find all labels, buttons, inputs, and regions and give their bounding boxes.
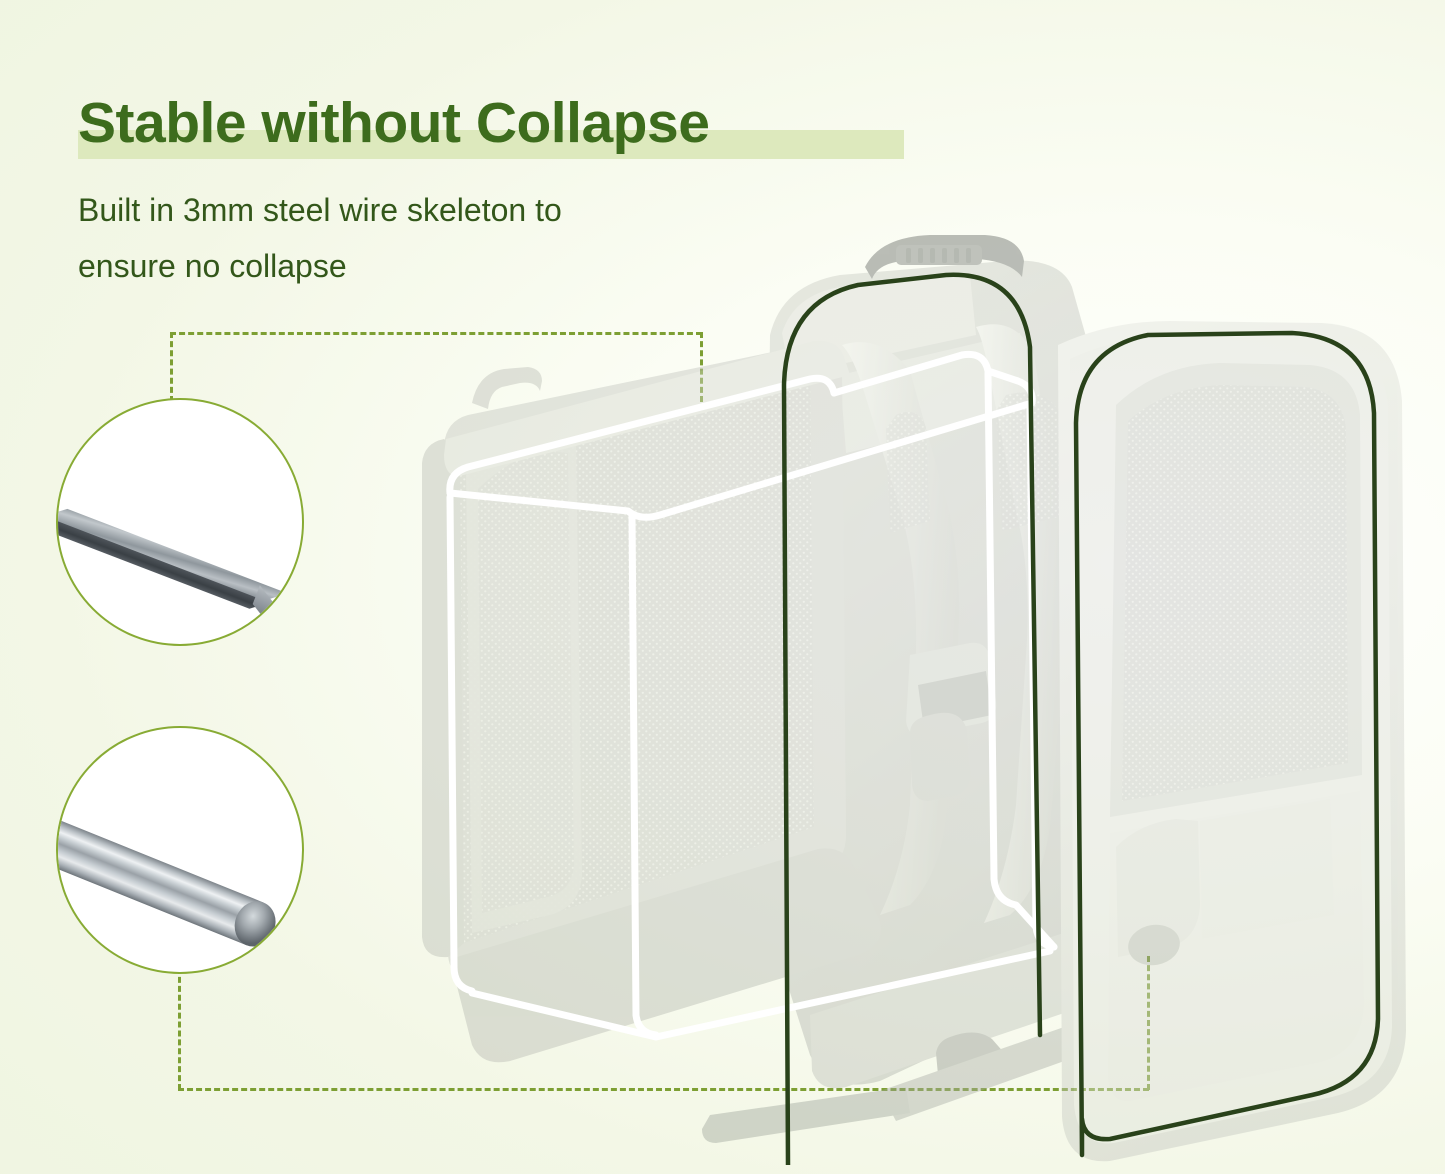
product-illustration — [410, 215, 1420, 1165]
product-photo-ghost — [422, 235, 1406, 1161]
flat-steel-bar-icon — [56, 505, 292, 622]
connector-top-left-vertical — [170, 332, 173, 402]
connector-bottom-left-vertical — [178, 968, 181, 1090]
round-steel-rod-icon — [56, 816, 282, 953]
title-text: Stable without Collapse — [78, 84, 709, 162]
infographic-canvas: Stable without Collapse Built in 3mm ste… — [0, 0, 1445, 1174]
callout-round-steel-rod — [56, 726, 304, 974]
page-title: Stable without Collapse — [78, 84, 978, 170]
callout-flat-steel-bar — [56, 398, 304, 646]
